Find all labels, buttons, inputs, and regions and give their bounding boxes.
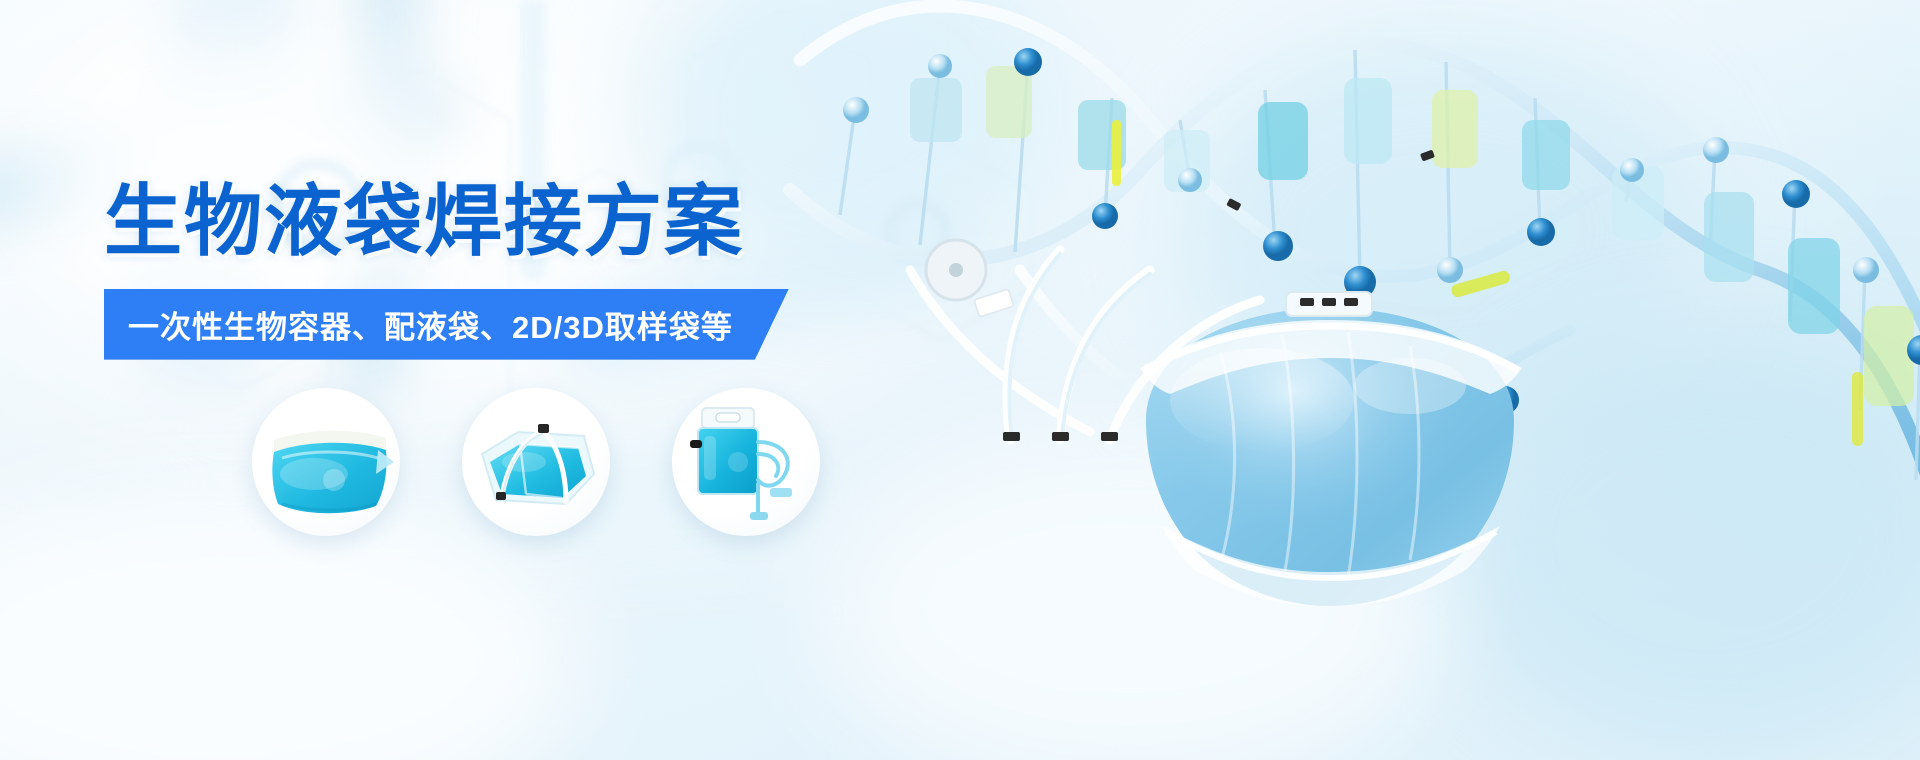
cube-bag-with-tubing-icon <box>462 388 610 536</box>
banner-text-block: 生物液袋焊接方案 一次性生物容器、配液袋、2D/3D取样袋等 <box>104 180 964 360</box>
liquid-bag-icon <box>252 388 400 536</box>
product-circle-2d-liquid-bag[interactable] <box>252 388 400 536</box>
product-circle-group <box>252 388 852 558</box>
product-circle-sampling-bag[interactable] <box>672 388 820 536</box>
hero-banner: 生物液袋焊接方案 一次性生物容器、配液袋、2D/3D取样袋等 <box>0 0 1920 760</box>
banner-subtitle: 一次性生物容器、配液袋、2D/3D取样袋等 <box>104 289 789 360</box>
banner-subtitle-wrapper: 一次性生物容器、配液袋、2D/3D取样袋等 <box>104 289 789 360</box>
banner-headline: 生物液袋焊接方案 <box>104 180 964 263</box>
sampling-bag-with-line-icon <box>672 388 820 536</box>
large-single-use-bioprocess-bag <box>1110 290 1550 620</box>
product-circle-3d-cube-bag[interactable] <box>462 388 610 536</box>
